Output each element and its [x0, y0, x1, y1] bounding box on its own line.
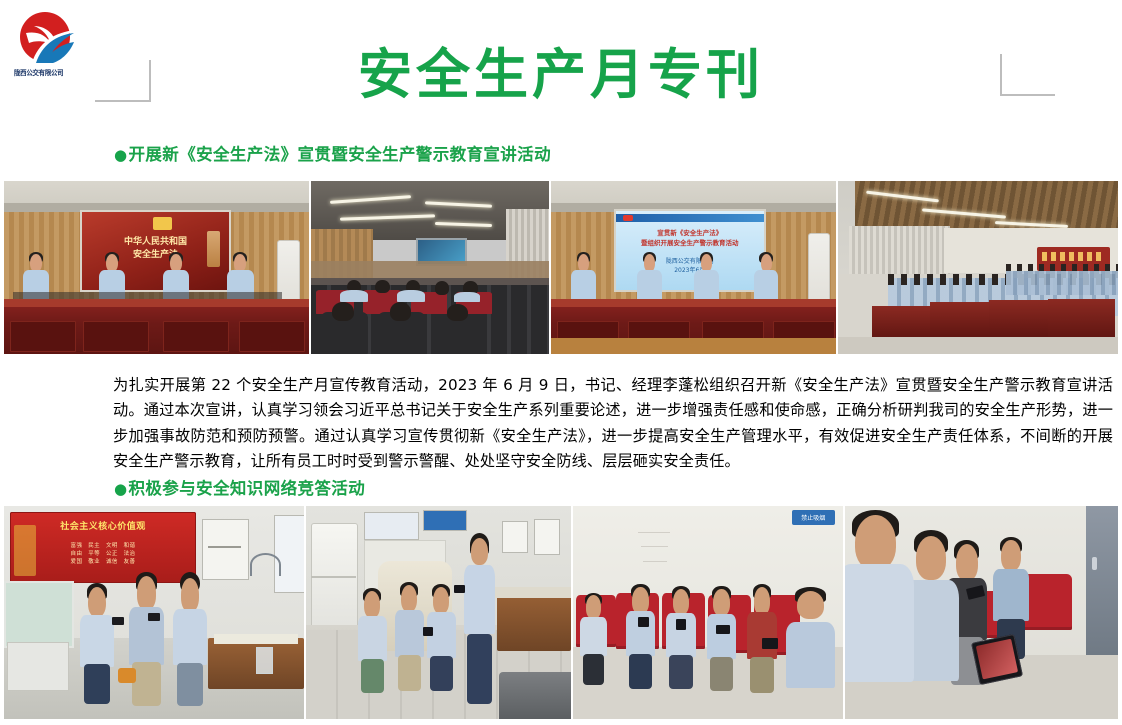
section-heading-2-text: 积极参与安全知识网络竞答活动: [129, 479, 366, 498]
bullet-icon: ●: [114, 146, 128, 164]
section-heading-2: ●积极参与安全知识网络竞答活动: [114, 476, 365, 502]
photo-staff-answering-red-seats: 禁止吸烟: [573, 506, 843, 719]
banner-title: 社会主义核心价值观: [10, 519, 196, 532]
photo-staff-answering-closeup: [845, 506, 1118, 719]
photo-presidium-red-screen: 中华人民共和国安全生产法: [4, 181, 309, 354]
photo-audience-side-view: [838, 181, 1118, 354]
page-title: 安全生产月专刊: [0, 44, 1122, 106]
page-header: 陇西公交有限公司 安全生产月专刊: [0, 0, 1122, 132]
photo-staff-answering-lounge: [306, 506, 571, 719]
section-heading-1: ●开展新《安全生产法》宣贯暨安全生产警示教育宣讲活动: [114, 142, 551, 168]
photo-staff-answering-under-banner: 社会主义核心价值观 富强 民主 文明 和谐自由 平等 公正 法治爱国 敬业 诚信…: [4, 506, 304, 719]
photo-presidium-blue-screen: 宣贯新《安全生产法》暨组织开展安全生产警示教育活动 陇西公交有限公司2023年6…: [551, 181, 836, 354]
photo-auditorium-audience-rear: [311, 181, 549, 354]
section-1-body-text: 为扎实开展第 22 个安全生产月宣传教育活动，2023 年 6 月 9 日，书记…: [113, 373, 1113, 474]
newsletter-page: 陇西公交有限公司 安全生产月专刊 ●开展新《安全生产法》宣贯暨安全生产警示教育宣…: [0, 0, 1122, 725]
photo-strip-1: 中华人民共和国安全生产法: [4, 181, 1118, 354]
photo-strip-2: 社会主义核心价值观 富强 民主 文明 和谐自由 平等 公正 法治爱国 敬业 诚信…: [4, 506, 1118, 719]
section-heading-1-text: 开展新《安全生产法》宣贯暨安全生产警示教育宣讲活动: [129, 145, 552, 164]
bullet-icon: ●: [114, 480, 128, 498]
